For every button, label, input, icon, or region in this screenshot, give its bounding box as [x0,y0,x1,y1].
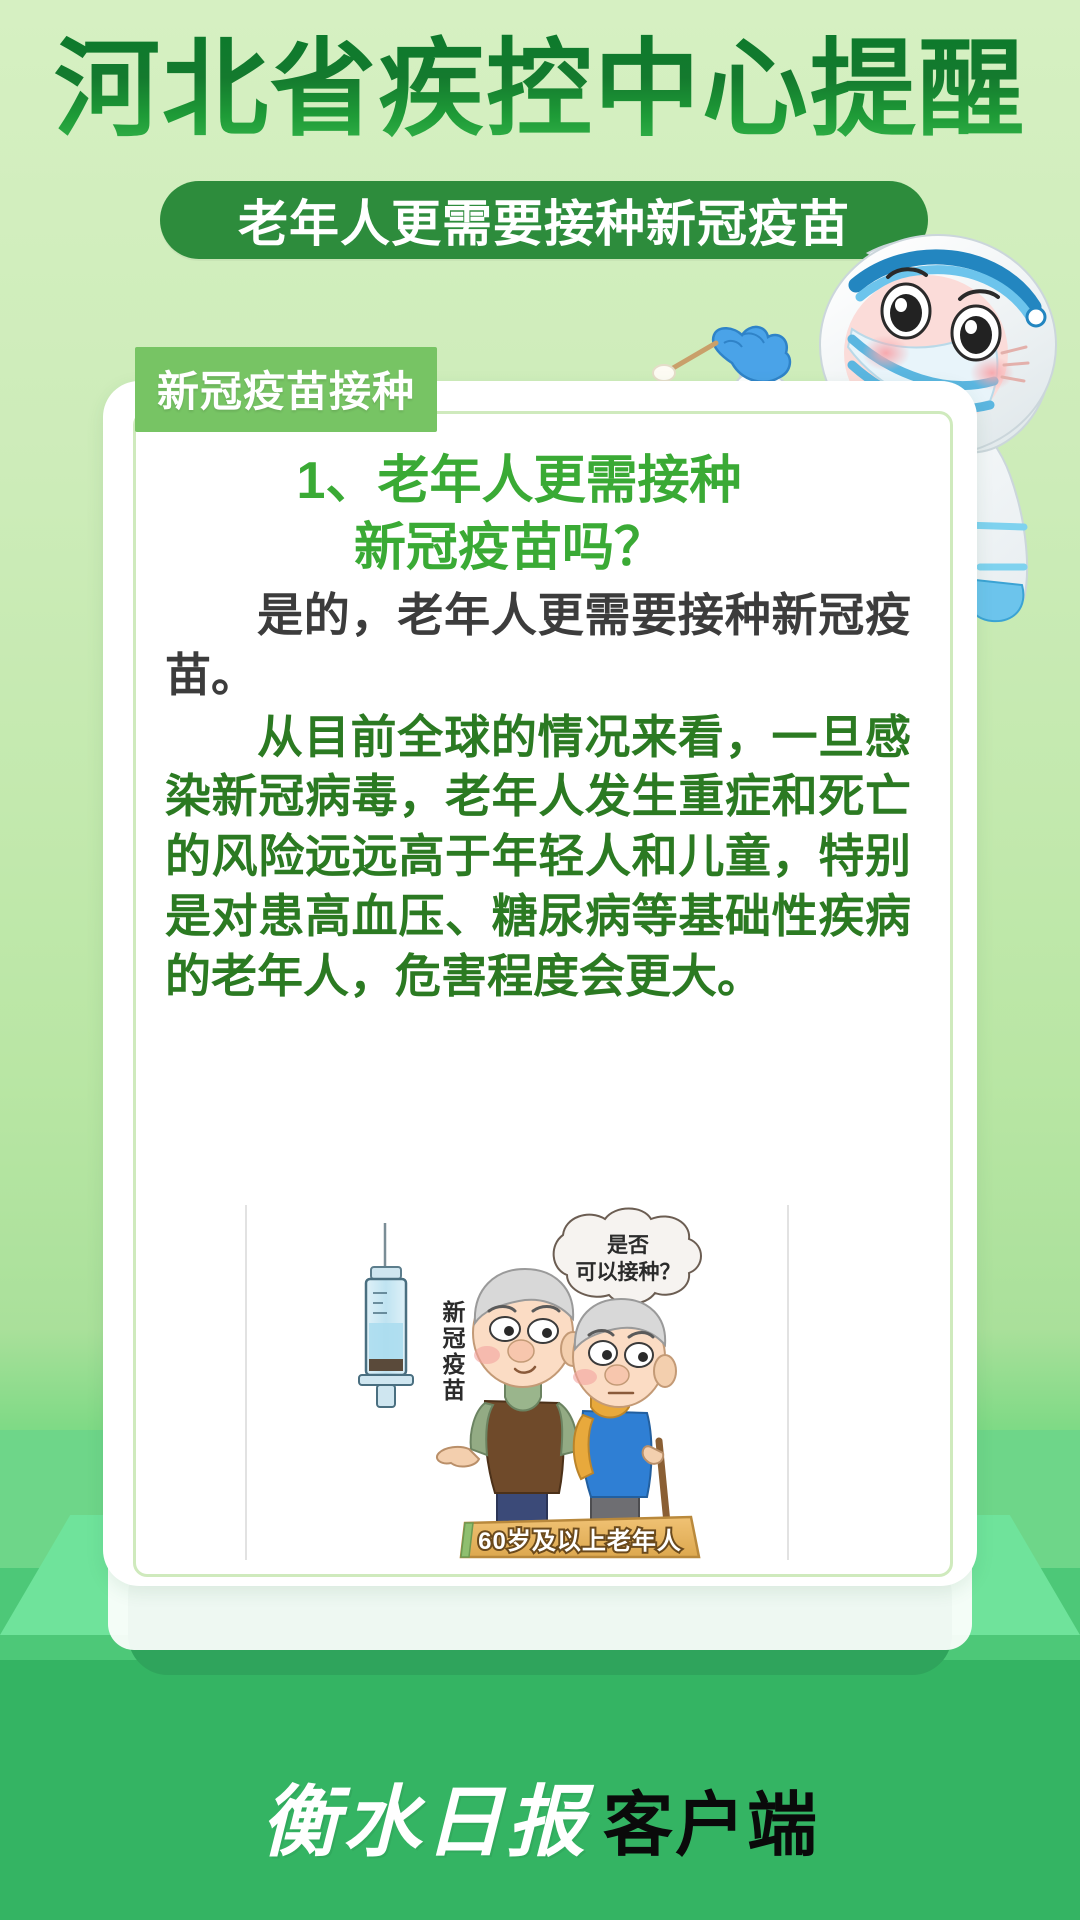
syringe-label: 新冠疫苗 [439,1299,466,1404]
page-title: 河北省疾控中心提醒 [0,34,1080,148]
pedestal-label: 60岁及以上老年人 [478,1527,682,1555]
question-heading: 1、老年人更需接种 新冠疫苗吗？ [160,448,860,581]
thought-line-1: 是否 [607,1234,649,1257]
footer-brand: 衡水日报 [261,1779,589,1866]
illustration-panel: 新冠疫苗 是否 可以接种？ [245,1205,789,1560]
poster-root: 河北省疾控中心提醒 老年人更需要接种新冠疫苗 [0,0,1080,1920]
question-line-2: 新冠疫苗吗？ [160,515,860,582]
glove-icon [713,327,790,382]
body-paragraph-1: 是的，老年人更需要接种新冠疫苗。 [165,586,911,706]
thought-line-2: 可以接种？ [576,1261,681,1284]
body-text: 是的，老年人更需要接种新冠疫苗。 从目前全球的情况来看，一旦感染新冠病毒，老年人… [165,586,911,1007]
pedestal: 60岁及以上老年人 [461,1517,699,1557]
section-tag: 新冠疫苗接种 [135,347,437,432]
question-line-1: 1、老年人更需接种 [160,448,860,515]
footer: 衡水日报客户端 [0,1760,1080,1872]
section-tag-label: 新冠疫苗接种 [157,358,415,419]
body-paragraph-2: 从目前全球的情况来看，一旦感染新冠病毒，老年人发生重症和死亡的风险远远高于年轻人… [165,708,911,1007]
elderly-vaccination-illustration-icon: 新冠疫苗 是否 可以接种？ [247,1205,787,1560]
footer-app-label: 客户端 [603,1786,819,1864]
